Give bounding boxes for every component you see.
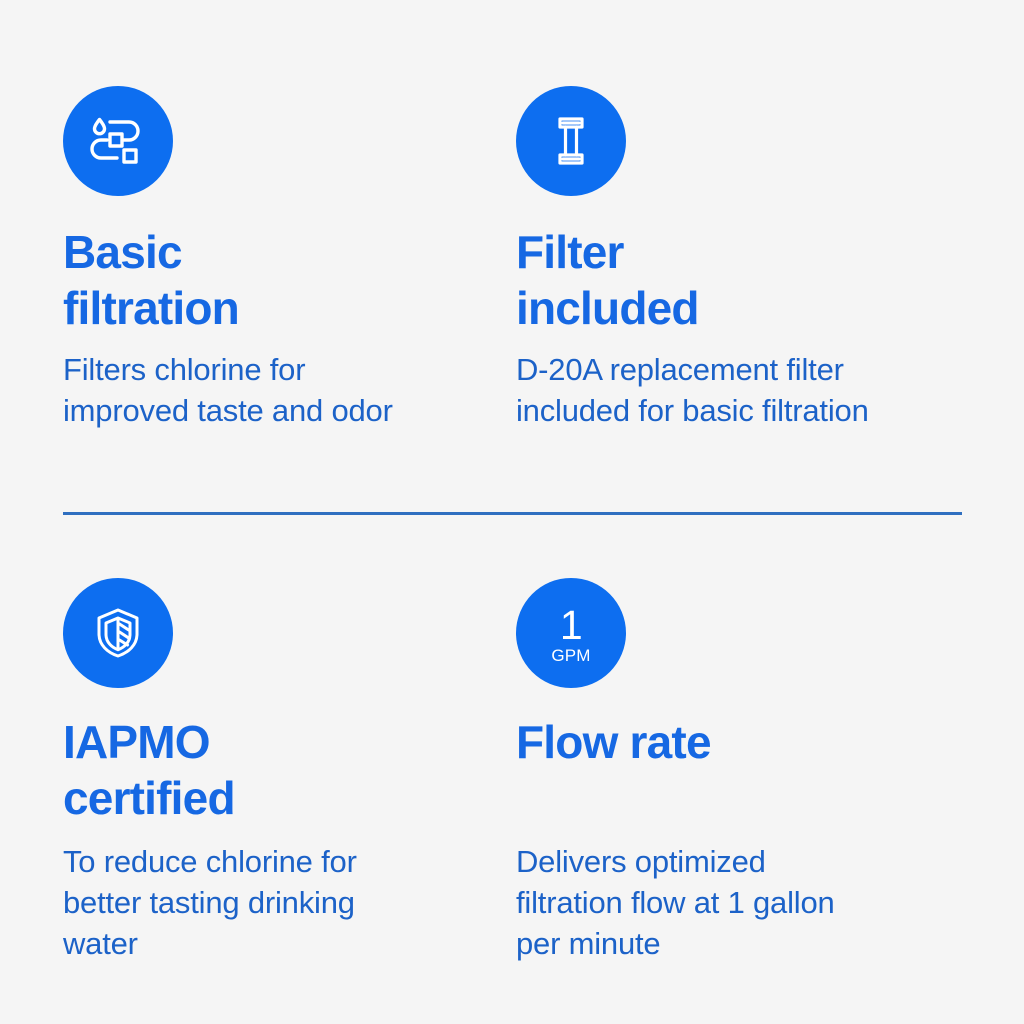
feature-title: IAPMO certified <box>63 714 518 826</box>
filter-cartridge-icon <box>516 86 626 196</box>
feature-description: To reduce chlorine for better tasting dr… <box>63 842 518 965</box>
feature-card-flow-rate: 1 GPM Flow rate Delivers optimized filtr… <box>516 578 971 965</box>
feature-title: Flow rate <box>516 714 971 826</box>
water-flow-path-icon <box>63 86 173 196</box>
feature-description: Filters chlorine for improved taste and … <box>63 350 518 432</box>
feature-card-filter-included: Filter included D-20A replacement filter… <box>516 86 971 432</box>
feature-title: Basic filtration <box>63 224 518 336</box>
feature-description: Delivers optimized filtration flow at 1 … <box>516 842 971 965</box>
feature-highlights-panel: Basic filtration Filters chlorine for im… <box>0 0 1024 1024</box>
section-divider <box>63 512 962 515</box>
feature-card-iapmo-certified: IAPMO certified To reduce chlorine for b… <box>63 578 518 965</box>
flow-rate-gpm-icon: 1 GPM <box>516 578 626 688</box>
feature-description: D-20A replacement filter included for ba… <box>516 350 971 432</box>
gpm-unit-label: GPM <box>551 647 590 664</box>
feature-title: Filter included <box>516 224 971 336</box>
shield-certified-icon <box>63 578 173 688</box>
gpm-value: 1 <box>560 605 582 646</box>
feature-card-basic-filtration: Basic filtration Filters chlorine for im… <box>63 86 518 432</box>
